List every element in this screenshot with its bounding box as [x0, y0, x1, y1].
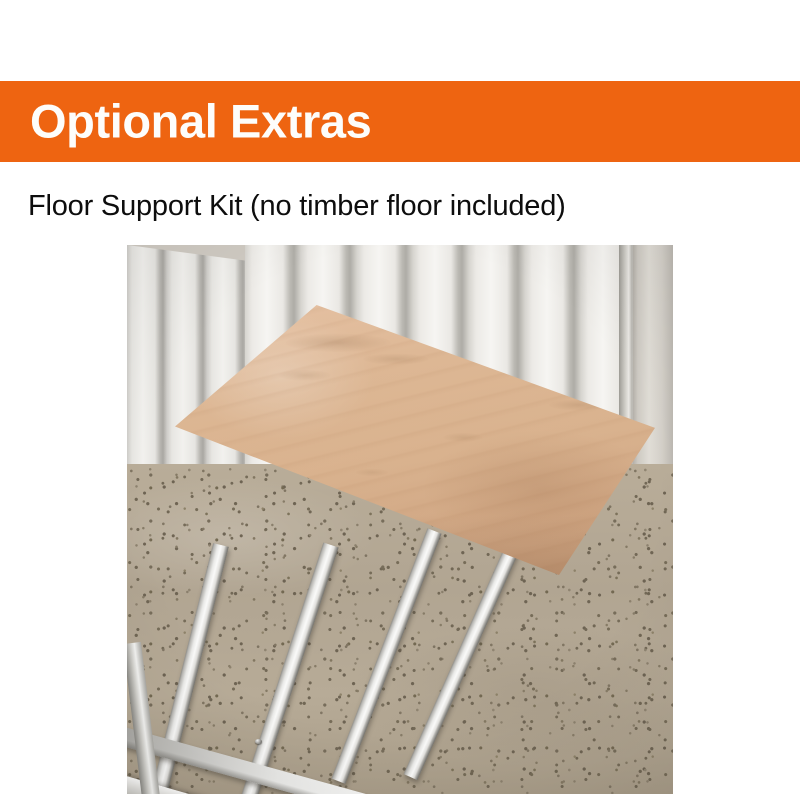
floor-support-kit-photo	[127, 245, 673, 794]
page-root: Optional Extras Floor Support Kit (no ti…	[0, 0, 800, 800]
product-subtitle: Floor Support Kit (no timber floor inclu…	[28, 191, 566, 223]
rail-fixing-screw	[255, 739, 262, 744]
optional-extras-banner: Optional Extras	[0, 81, 800, 162]
photo-scene	[127, 245, 673, 794]
page-title: Optional Extras	[30, 97, 371, 144]
